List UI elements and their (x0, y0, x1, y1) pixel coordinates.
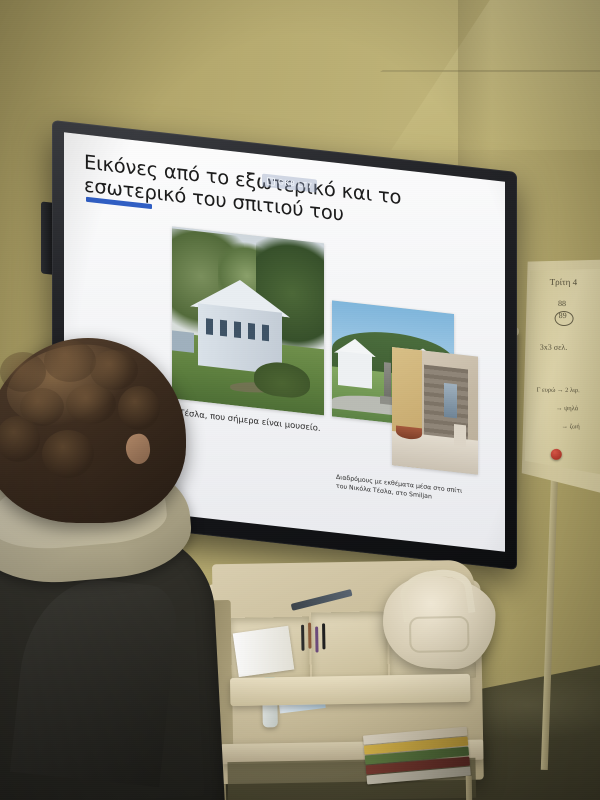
whiteboard-note-0: Τρίτη 4 (550, 277, 578, 287)
whiteboard-magnet[interactable] (551, 449, 562, 460)
pen-holder[interactable] (299, 622, 333, 651)
handbag-pocket (409, 616, 470, 653)
slide-photo-museum-interior (392, 347, 478, 475)
whiteboard-note-3: 3x3 σελ. (540, 343, 568, 352)
classroom-scene: Τρίτη 4 88 89 3x3 σελ. Γ ευρώ → 2 λιρ. →… (0, 0, 600, 800)
whiteboard-surface[interactable]: Τρίτη 4 88 89 3x3 σελ. Γ ευρώ → 2 λιρ. →… (523, 266, 600, 475)
badge-label: GK8 LT7 (278, 177, 312, 190)
whiteboard[interactable]: Τρίτη 4 88 89 3x3 σελ. Γ ευρώ → 2 λιρ. →… (512, 257, 600, 495)
cart-leg-right (466, 776, 473, 800)
whiteboard-note-5: → ψηλά (556, 405, 578, 412)
whiteboard-note-4: Γ ευρώ → 2 λιρ. (537, 387, 580, 394)
whiteboard-note-6: → ζωή (562, 424, 580, 431)
panel-side-button-strip[interactable] (41, 201, 52, 274)
classroom-supply-cart[interactable] (194, 553, 498, 800)
badge-square-icon (267, 177, 275, 186)
papers-stack[interactable] (233, 626, 295, 677)
book-stack[interactable] (363, 726, 480, 798)
slide-caption-2: Διαδρόμους με εκθέματα μέσα στο σπίτι το… (336, 473, 466, 506)
whiteboard-note-2: 89 (559, 311, 567, 320)
cart-front-rim (230, 674, 470, 706)
whiteboard-note-1: 88 (558, 299, 566, 308)
student (0, 330, 218, 800)
